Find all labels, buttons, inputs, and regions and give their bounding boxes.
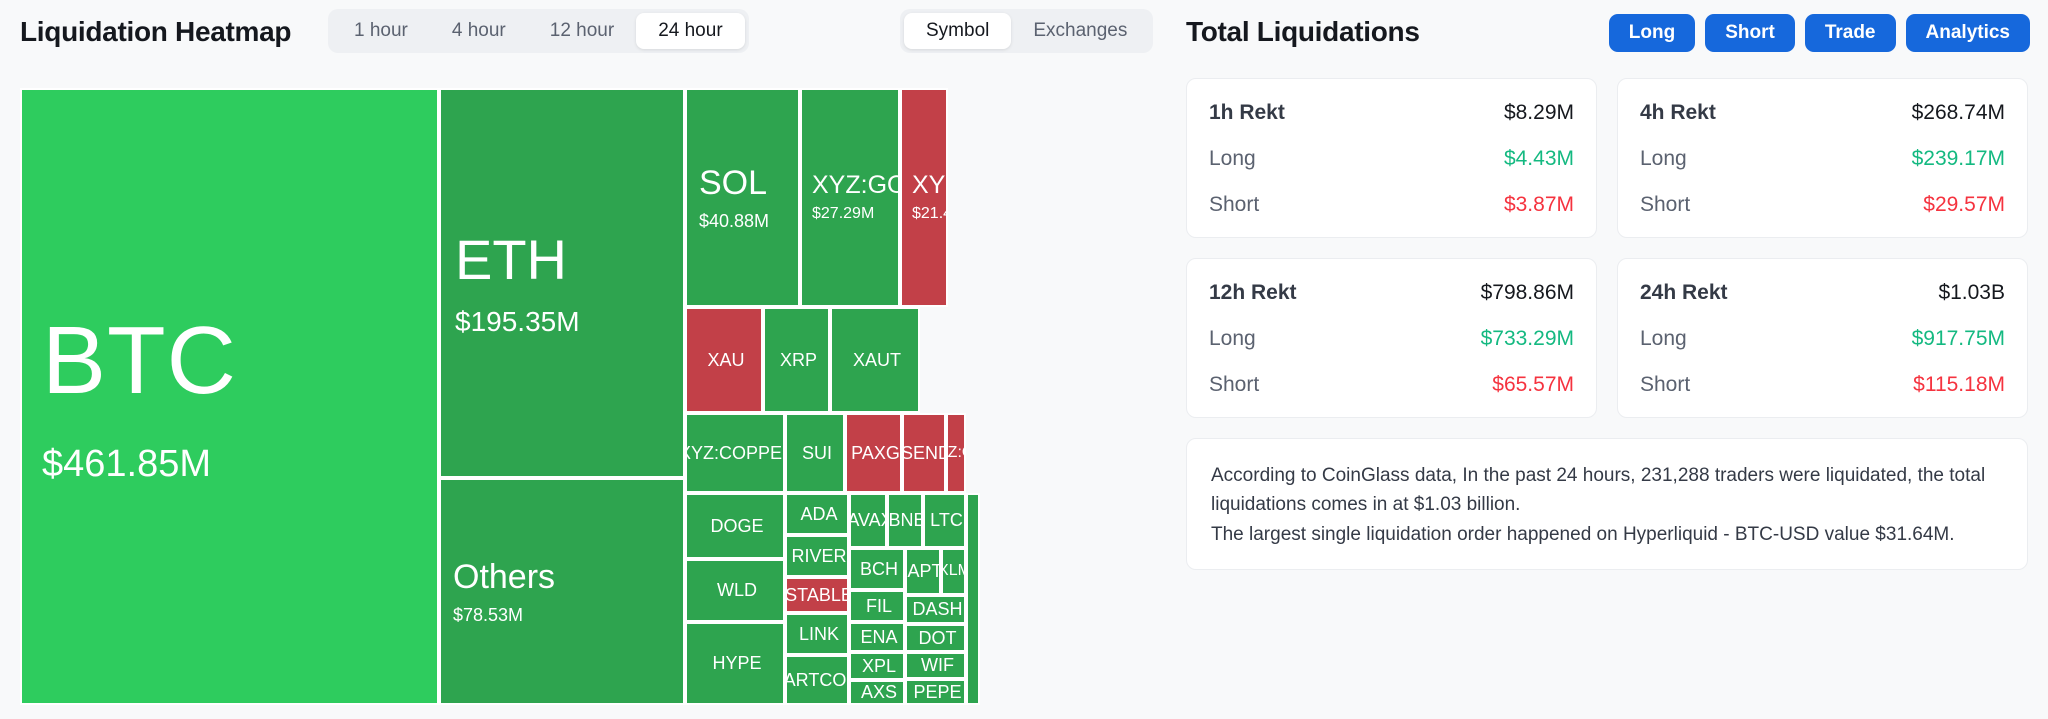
treemap-tile-hype[interactable]: HYPE$4.95M	[685, 622, 785, 705]
treemap-tile-xyz-copper[interactable]: XYZ:COPPER$9.81M	[685, 413, 785, 493]
short-button[interactable]: Short	[1705, 14, 1795, 52]
treemap-tile-sui[interactable]: SUI$7.15M	[785, 413, 845, 493]
treemap-tile-symbol: STABLE	[785, 585, 849, 606]
treemap-tile-others[interactable]: Others$78.53M	[439, 478, 685, 705]
treemap-tile-symbol: ENA	[860, 627, 897, 648]
treemap-tile-river[interactable]: RIVER$4.10M	[785, 535, 849, 577]
treemap-tile-avax[interactable]: AVAX$3.10M	[849, 493, 887, 548]
treemap-tile-bnb[interactable]: BNB$3.00M	[887, 493, 923, 548]
treemap-tile-dot[interactable]: DOT$1.75M	[905, 624, 966, 652]
stat-short-label: Short	[1209, 193, 1259, 217]
stat-row-total: 4h Rekt$268.74M	[1640, 101, 2005, 125]
treemap-tile-symbol: XAUT	[853, 350, 901, 371]
treemap-tile-dash[interactable]: DASH$1.90M	[905, 595, 966, 624]
treemap-tile-btc[interactable]: BTC$461.85M	[20, 88, 439, 705]
stat-card-12h: 12h Rekt$798.86MLong$733.29MShort$65.57M	[1186, 258, 1597, 418]
treemap-tile-symbol: BTC	[42, 306, 437, 416]
treemap-tile-symbol: XYZ:SILVER	[912, 171, 946, 200]
stat-card-1h: 1h Rekt$8.29MLong$4.43MShort$3.87M	[1186, 78, 1597, 238]
stat-long-value: $917.75M	[1912, 327, 2005, 351]
stat-row-short: Short$115.18M	[1640, 373, 2005, 397]
treemap-tile-value: $27.29M	[812, 205, 898, 223]
stat-row-short: Short$3.87M	[1209, 193, 1574, 217]
stat-short-label: Short	[1640, 193, 1690, 217]
stat-title: 12h Rekt	[1209, 281, 1297, 305]
treemap-tile-doge[interactable]: DOGE$6.05M	[685, 493, 785, 559]
treemap-tile-symbol: SOL	[699, 164, 798, 203]
timeframe-option-1-hour[interactable]: 1 hour	[332, 13, 430, 49]
treemap-tile-symbol: HYPE	[712, 653, 761, 674]
treemap-tile-eth[interactable]: ETH$195.35M	[439, 88, 685, 478]
summary-text: According to CoinGlass data, In the past…	[1211, 461, 2003, 549]
treemap-tile-fartcoin[interactable]: FARTCOIN$3.20M	[785, 655, 849, 705]
treemap-tile-xau[interactable]: XAU$15.12M	[685, 307, 763, 413]
treemap-tile-xyz-oil[interactable]: XYZ:OIL$4.10M	[946, 413, 966, 493]
liquidation-treemap[interactable]: BTC$461.85METH$195.35MOthers$78.53MSOL$4…	[20, 88, 1175, 705]
treemap-tile-link[interactable]: LINK$3.55M	[785, 613, 849, 655]
treemap-tile-bch[interactable]: BCH$2.60M	[849, 548, 905, 590]
summary-card: According to CoinGlass data, In the past…	[1186, 438, 2028, 570]
stat-short-label: Short	[1209, 373, 1259, 397]
treemap-tile-symbol: SEND	[902, 443, 946, 464]
treemap-tile-wif[interactable]: WIF$1.60M	[905, 652, 966, 679]
treemap-tile-ltc[interactable]: LTC$2.88M	[923, 493, 966, 548]
stat-row-long: Long$733.29M	[1209, 327, 1574, 351]
stat-short-value: $29.57M	[1923, 193, 2005, 217]
treemap-tile-xyz-silver[interactable]: XYZ:SILVER$21.40M	[900, 88, 948, 307]
treemap-tile-symbol: ETH	[455, 228, 683, 292]
treemap-tile-symbol: XYZ:GOLD	[812, 171, 898, 200]
stat-long-label: Long	[1640, 327, 1687, 351]
treemap-tile-symbol: BCH	[860, 559, 898, 580]
stat-card-4h: 4h Rekt$268.74MLong$239.17MShort$29.57M	[1617, 78, 2028, 238]
treemap-tile-symbol: XLM	[941, 562, 966, 580]
total-liquidations-panel: 1h Rekt$8.29MLong$4.43MShort$3.87M4h Rek…	[1186, 78, 2028, 570]
treemap-tile-paxg[interactable]: PAXG$6.90M	[845, 413, 902, 493]
stat-row-long: Long$917.75M	[1640, 327, 2005, 351]
stat-short-value: $115.18M	[1913, 373, 2005, 397]
timeframe-option-12-hour[interactable]: 12 hour	[528, 13, 636, 49]
treemap-tile-symbol: AVAX	[849, 510, 887, 531]
stat-card-grid: 1h Rekt$8.29MLong$4.43MShort$3.87M4h Rek…	[1186, 78, 2028, 418]
treemap-tile-value: $40.88M	[699, 211, 798, 232]
treemap-tile-symbol: APT	[908, 561, 942, 582]
treemap-tile-value: $21.40M	[912, 205, 946, 223]
stat-long-value: $239.17M	[1912, 147, 2005, 171]
stat-row-short: Short$29.57M	[1640, 193, 2005, 217]
treemap-tile-symbol: RIVER	[791, 546, 846, 567]
treemap-tile-fil[interactable]: FIL$2.30M	[849, 590, 905, 622]
stat-total-value: $1.03B	[1938, 281, 2005, 305]
stat-short-value: $65.57M	[1492, 373, 1574, 397]
action-button-group: LongShortTradeAnalytics	[1609, 14, 2030, 52]
stat-title: 24h Rekt	[1640, 281, 1728, 305]
treemap-tile-symbol: XRP	[780, 350, 817, 371]
treemap-tile-symbol: DASH	[912, 599, 962, 620]
treemap-tile-symbol: WLD	[717, 580, 757, 601]
treemap-tile-symbol: LTC	[930, 510, 963, 531]
treemap-tile-xrp[interactable]: XRP$14.02M	[763, 307, 830, 413]
treemap-tile-symbol: BNB	[889, 510, 924, 531]
view-mode-option-exchanges[interactable]: Exchanges	[1011, 13, 1149, 49]
treemap-tile-xyz-gold[interactable]: XYZ:GOLD$27.29M	[800, 88, 900, 307]
treemap-tile-apt[interactable]: APT$2.20M	[905, 548, 941, 595]
stat-row-short: Short$65.57M	[1209, 373, 1574, 397]
treemap-tile-send[interactable]: SEND$6.20M	[902, 413, 946, 493]
view-mode-selector[interactable]: SymbolExchanges	[900, 9, 1153, 53]
stat-row-total: 24h Rekt$1.03B	[1640, 281, 2005, 305]
stat-total-value: $268.74M	[1912, 101, 2005, 125]
treemap-tile-stable[interactable]: STABLE$3.80M	[785, 577, 849, 613]
treemap-tile-symbol: XYZ:OIL	[946, 444, 966, 462]
treemap-tile-sol[interactable]: SOL$40.88M	[685, 88, 800, 307]
stat-long-label: Long	[1209, 147, 1256, 171]
stat-title: 4h Rekt	[1640, 101, 1716, 125]
treemap-tile-symbol: SUI	[802, 443, 832, 464]
stat-short-value: $3.87M	[1504, 193, 1574, 217]
treemap-tile-symbol: PAXG	[851, 443, 900, 464]
timeframe-option-24-hour[interactable]: 24 hour	[636, 13, 744, 49]
stat-row-long: Long$4.43M	[1209, 147, 1574, 171]
treemap-tile-symbol: AXS	[861, 682, 897, 703]
treemap-tile-ada[interactable]: ADA$4.52M	[785, 493, 849, 535]
stat-title: 1h Rekt	[1209, 101, 1285, 125]
treemap-tile-symbol: Others	[453, 558, 683, 597]
stat-row-total: 12h Rekt$798.86M	[1209, 281, 1574, 305]
long-button[interactable]: Long	[1609, 14, 1695, 52]
stat-long-label: Long	[1640, 147, 1687, 171]
treemap-tile-value: $195.35M	[455, 306, 683, 338]
treemap-tile-symbol: PEPE	[913, 682, 961, 703]
stat-long-label: Long	[1209, 327, 1256, 351]
treemap-tile-symbol: FIL	[866, 596, 892, 617]
trade-button[interactable]: Trade	[1805, 14, 1896, 52]
treemap-tile-axs[interactable]: AXS$1.80M	[849, 680, 905, 705]
treemap-tile-xpl[interactable]: XPL$1.95M	[849, 652, 905, 680]
stat-row-long: Long$239.17M	[1640, 147, 2005, 171]
treemap-tile-symbol: XPL	[862, 656, 896, 677]
stat-total-value: $8.29M	[1504, 101, 1574, 125]
treemap-tile-symbol: WIF	[921, 655, 954, 676]
stat-long-value: $733.29M	[1481, 327, 1574, 351]
treemap-tile-symbol: XAU	[707, 350, 744, 371]
stat-card-24h: 24h Rekt$1.03BLong$917.75MShort$115.18M	[1617, 258, 2028, 418]
treemap-tile-symbol: ADA	[800, 504, 837, 525]
view-mode-option-symbol[interactable]: Symbol	[904, 13, 1011, 49]
treemap-tile-pepe[interactable]: PEPE$1.45M	[905, 679, 966, 705]
total-liquidations-title: Total Liquidations	[1186, 16, 1420, 48]
treemap-tile-xaut[interactable]: XAUT$13.58M	[830, 307, 920, 413]
analytics-button[interactable]: Analytics	[1906, 14, 2030, 52]
app-header: Liquidation Heatmap 1 hour4 hour12 hour2…	[0, 0, 2048, 62]
timeframe-selector[interactable]: 1 hour4 hour12 hour24 hour	[328, 9, 749, 53]
stat-row-total: 1h Rekt$8.29M	[1209, 101, 1574, 125]
treemap-tile-symbol: DOT	[919, 628, 957, 649]
treemap-tile-xlm[interactable]: XLM$2.05M	[941, 548, 966, 595]
treemap-tile-symbol: DOGE	[710, 516, 763, 537]
treemap-tile-ena[interactable]: ENA$2.10M	[849, 622, 905, 652]
page-title: Liquidation Heatmap	[20, 16, 291, 48]
stat-total-value: $798.86M	[1481, 281, 1574, 305]
treemap-tile-symbol: LINK	[799, 624, 839, 645]
treemap-tile[interactable]	[966, 493, 980, 705]
treemap-tile-value: $78.53M	[453, 605, 683, 626]
treemap-tile-wld[interactable]: WLD$5.40M	[685, 559, 785, 622]
stat-short-label: Short	[1640, 373, 1690, 397]
treemap-tile-value: $461.85M	[42, 443, 437, 487]
treemap-tile-symbol: FARTCOIN	[785, 670, 849, 691]
treemap-tile-symbol: XYZ:COPPER	[685, 443, 785, 464]
timeframe-option-4-hour[interactable]: 4 hour	[430, 13, 528, 49]
stat-long-value: $4.43M	[1504, 147, 1574, 171]
